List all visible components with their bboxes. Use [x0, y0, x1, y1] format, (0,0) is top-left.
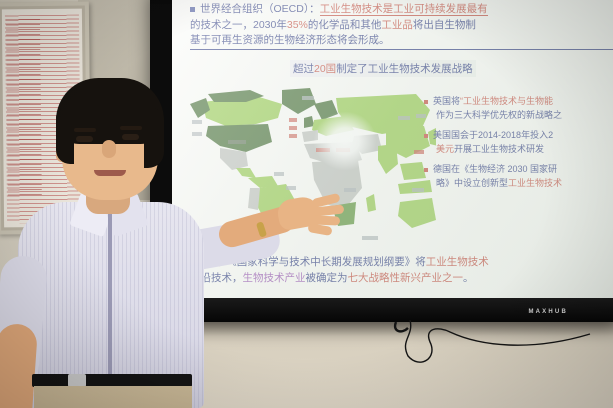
presenter-eye-right	[122, 134, 139, 140]
presenter-brow-left	[74, 128, 96, 132]
presenter	[0, 56, 240, 408]
shirt-placket	[108, 206, 112, 384]
maxhub-brand-label: MAXHUB	[528, 309, 568, 315]
presenter-eye-left	[76, 136, 93, 142]
presenter-brow-right	[120, 126, 142, 130]
presenter-hair-right	[144, 108, 164, 168]
photo-scene: 世界经合组织（OECD）：工业生物技术是工业可持续发展最有 的技术之一，2030…	[0, 0, 613, 408]
presenter-mouth	[94, 170, 126, 176]
display-cables	[390, 318, 613, 378]
presenter-hair-left	[56, 108, 74, 164]
presenter-nose	[102, 140, 116, 158]
presenter-pants	[34, 386, 192, 408]
presenter-left-forearm	[0, 323, 38, 408]
